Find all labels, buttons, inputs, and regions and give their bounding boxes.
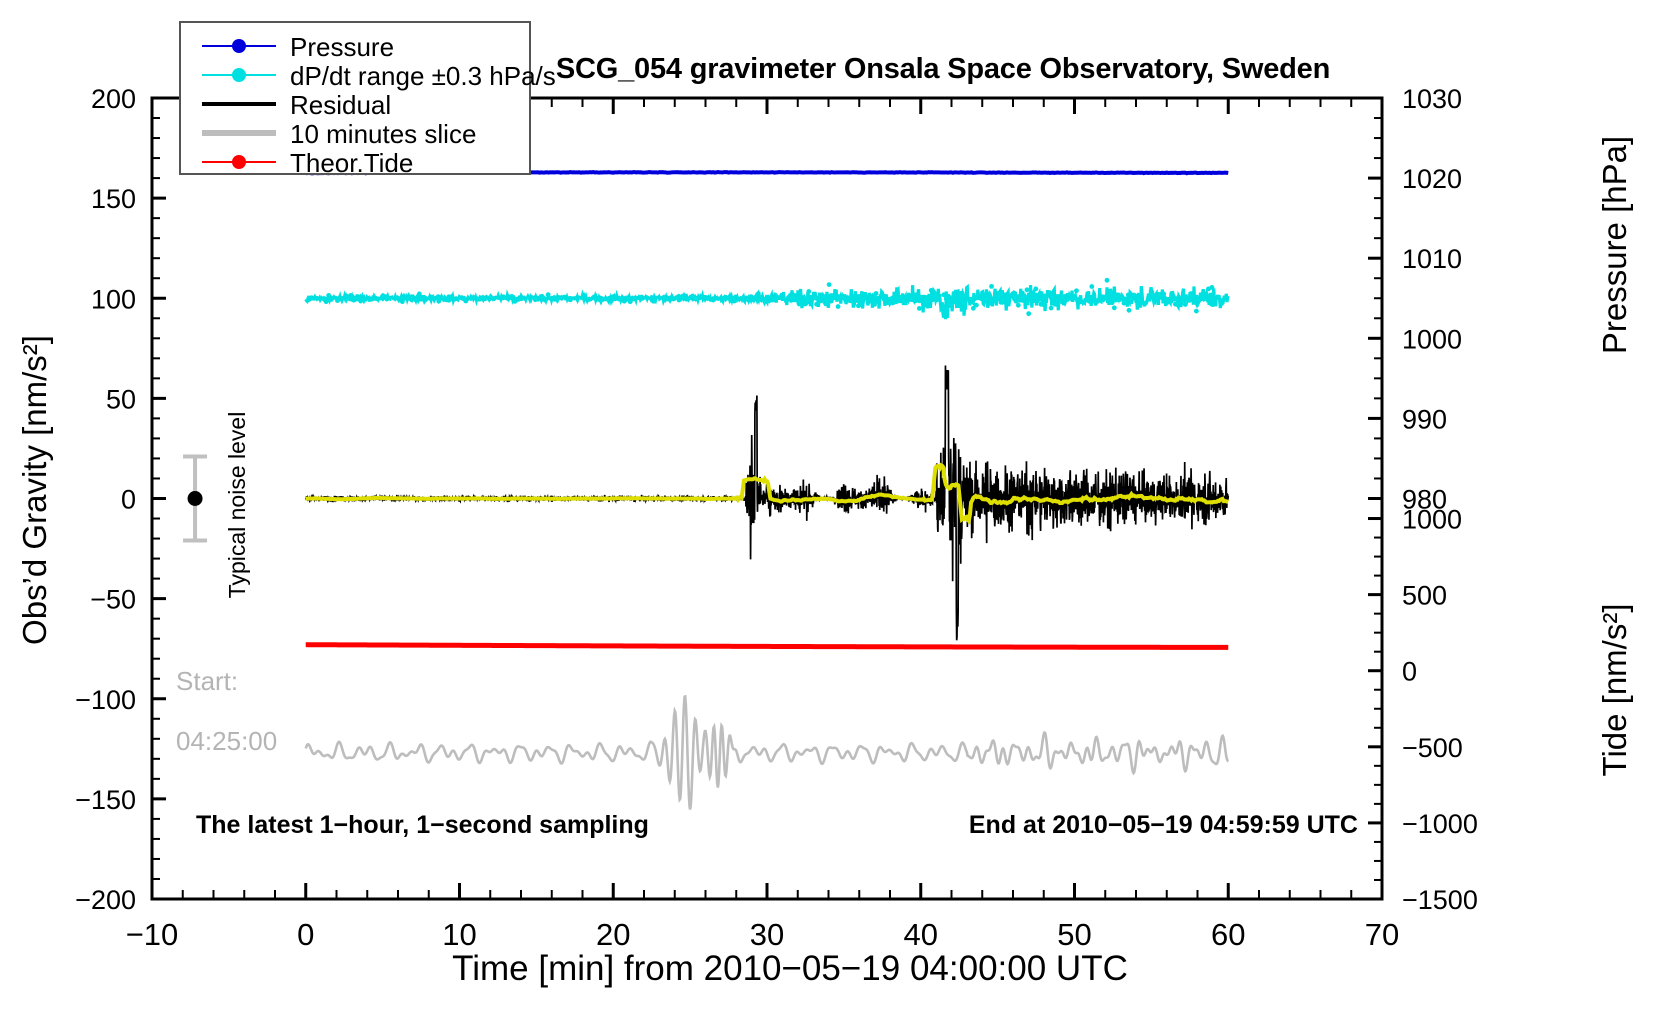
legend-swatch-dot bbox=[232, 68, 246, 82]
dpdt-point bbox=[568, 297, 573, 302]
dpdt-point bbox=[620, 296, 625, 301]
dpdt-point bbox=[1210, 285, 1215, 290]
dpdt-point bbox=[385, 297, 390, 302]
pressure-tick-label: 990 bbox=[1402, 404, 1447, 434]
dpdt-point bbox=[348, 293, 353, 298]
dpdt-point bbox=[666, 297, 671, 302]
x-tick-label: 60 bbox=[1211, 917, 1245, 952]
dpdt-point bbox=[628, 299, 633, 304]
dpdt-point bbox=[324, 299, 329, 304]
dpdt-point bbox=[651, 299, 656, 304]
dpdt-point bbox=[1126, 292, 1131, 297]
dpdt-point bbox=[838, 296, 843, 301]
dpdt-point bbox=[844, 295, 849, 300]
dpdt-point bbox=[998, 300, 1003, 305]
dpdt-point bbox=[1026, 295, 1031, 300]
dpdt-point bbox=[676, 294, 681, 299]
legend-item-label: 10 minutes slice bbox=[290, 119, 476, 149]
dpdt-point bbox=[1025, 287, 1030, 292]
y-tick-label: −200 bbox=[75, 885, 136, 915]
dpdt-point bbox=[759, 296, 764, 301]
tide-tick-label: 500 bbox=[1402, 581, 1447, 611]
dpdt-point bbox=[400, 299, 405, 304]
dpdt-point bbox=[501, 294, 506, 299]
dpdt-point bbox=[976, 295, 981, 300]
dpdt-point bbox=[1130, 296, 1135, 301]
x-tick-label: 10 bbox=[442, 917, 476, 952]
start-time-value: 04:25:00 bbox=[176, 726, 277, 756]
dpdt-point bbox=[944, 296, 949, 301]
dpdt-point bbox=[1187, 298, 1192, 303]
dpdt-point bbox=[1052, 295, 1057, 300]
y-tick-label: 0 bbox=[121, 485, 136, 515]
dpdt-point bbox=[339, 296, 344, 301]
dpdt-point bbox=[988, 301, 993, 306]
tide-tick-label: −1500 bbox=[1402, 885, 1478, 915]
dpdt-point bbox=[989, 284, 994, 289]
dpdt-point bbox=[812, 294, 817, 299]
dpdt-point bbox=[1112, 305, 1117, 310]
x-tick-label: 50 bbox=[1057, 917, 1091, 952]
pressure-tick-label: 1010 bbox=[1402, 244, 1462, 274]
y-tick-label: −100 bbox=[75, 685, 136, 715]
dpdt-point bbox=[639, 295, 644, 300]
dpdt-point bbox=[446, 294, 451, 299]
dpdt-point bbox=[1194, 309, 1199, 314]
y-tick-label: −150 bbox=[75, 785, 136, 815]
dpdt-point bbox=[546, 292, 551, 297]
dpdt-point bbox=[720, 296, 725, 301]
dpdt-point bbox=[892, 298, 897, 303]
legend[interactable]: PressuredP/dt range ±0.3 hPa/sResidual10… bbox=[180, 22, 556, 178]
dpdt-point bbox=[960, 291, 965, 296]
dpdt-point bbox=[430, 295, 435, 300]
dpdt-point bbox=[517, 295, 522, 300]
dpdt-point bbox=[711, 298, 716, 303]
footer-left-note: The latest 1−hour, 1−second sampling bbox=[196, 811, 649, 839]
x-tick-label: 0 bbox=[297, 917, 314, 952]
dpdt-point bbox=[326, 293, 331, 298]
dpdt-point bbox=[1122, 301, 1127, 306]
tide-tick-label: 0 bbox=[1402, 657, 1417, 687]
dpdt-point bbox=[786, 295, 791, 300]
dpdt-point bbox=[823, 302, 828, 307]
y-axis-title-pressure: Pressure [hPa] bbox=[1596, 136, 1633, 354]
dpdt-point bbox=[508, 295, 513, 300]
y-tick-label: −50 bbox=[90, 585, 136, 615]
dpdt-point bbox=[533, 297, 538, 302]
dpdt-point bbox=[1049, 306, 1054, 311]
dpdt-point bbox=[814, 302, 819, 307]
dpdt-point bbox=[904, 294, 909, 299]
dpdt-point bbox=[917, 306, 922, 311]
dpdt-point bbox=[932, 290, 937, 295]
dpdt-point bbox=[1212, 301, 1217, 306]
dpdt-point bbox=[1065, 297, 1070, 302]
footer-right-note: End at 2010−05−19 04:59:59 UTC bbox=[969, 811, 1358, 839]
pressure-tick-label: 1020 bbox=[1402, 164, 1462, 194]
dpdt-point bbox=[1016, 303, 1021, 308]
gravimeter-chart: 200150100500−50−100−150−200 −10010203040… bbox=[0, 0, 1676, 1020]
tide-tick-label: −1000 bbox=[1402, 809, 1478, 839]
y-tick-label: 200 bbox=[91, 84, 136, 114]
dpdt-point bbox=[311, 296, 316, 301]
dpdt-point bbox=[770, 298, 775, 303]
y-tick-label: 100 bbox=[91, 284, 136, 314]
dpdt-point bbox=[1220, 298, 1225, 303]
dpdt-point bbox=[1105, 278, 1110, 283]
dpdt-point bbox=[1041, 302, 1046, 307]
dpdt-point bbox=[1087, 299, 1092, 304]
dpdt-point bbox=[1000, 294, 1005, 299]
dpdt-point bbox=[693, 296, 698, 301]
y-tick-label: 150 bbox=[91, 184, 136, 214]
dpdt-point bbox=[1139, 298, 1144, 303]
dpdt-point bbox=[1161, 292, 1166, 297]
dpdt-point bbox=[1173, 302, 1178, 307]
dpdt-point bbox=[1012, 291, 1017, 296]
dpdt-point bbox=[463, 299, 468, 304]
dpdt-point bbox=[611, 295, 616, 300]
dpdt-point bbox=[872, 302, 877, 307]
legend-item-label: Residual bbox=[290, 90, 391, 120]
dpdt-point bbox=[824, 296, 829, 301]
dpdt-point bbox=[922, 299, 927, 304]
dpdt-point bbox=[947, 303, 952, 308]
legend-swatch-dot bbox=[232, 155, 246, 169]
dpdt-point bbox=[1014, 299, 1019, 304]
dpdt-point bbox=[807, 295, 812, 300]
dpdt-point bbox=[750, 295, 755, 300]
dpdt-point bbox=[362, 297, 367, 302]
dpdt-point bbox=[994, 291, 999, 296]
dpdt-point bbox=[381, 293, 386, 298]
dpdt-point bbox=[1026, 311, 1031, 316]
x-tick-label: 30 bbox=[750, 917, 784, 952]
dpdt-point bbox=[819, 293, 824, 298]
legend-item-label: Theor.Tide bbox=[290, 148, 413, 178]
x-tick-label: 70 bbox=[1365, 917, 1399, 952]
dpdt-point bbox=[740, 296, 745, 301]
x-tick-label: 40 bbox=[904, 917, 938, 952]
dpdt-point bbox=[827, 282, 832, 287]
dpdt-point bbox=[558, 295, 563, 300]
dpdt-point bbox=[804, 301, 809, 306]
chart-page: 200150100500−50−100−150−200 −10010203040… bbox=[0, 0, 1676, 1020]
dpdt-point bbox=[480, 295, 485, 300]
x-axis-title: Time [min] from 2010−05−19 04:00:00 UTC bbox=[452, 949, 1128, 988]
chart-title: SCG_054 gravimeter Onsala Space Observat… bbox=[556, 53, 1330, 85]
dpdt-point bbox=[436, 299, 441, 304]
dpdt-point bbox=[1047, 290, 1052, 295]
dpdt-point bbox=[836, 304, 841, 309]
legend-swatch-dot bbox=[232, 39, 246, 53]
dpdt-point bbox=[1033, 287, 1038, 292]
dpdt-point bbox=[1116, 294, 1121, 299]
dpdt-point bbox=[512, 299, 517, 304]
dpdt-point bbox=[1183, 302, 1188, 307]
dpdt-point bbox=[491, 296, 496, 301]
dpdt-point bbox=[1169, 291, 1174, 296]
typical-noise-level-label: Typical noise level bbox=[224, 412, 250, 599]
dpdt-point bbox=[806, 289, 811, 294]
dpdt-point bbox=[797, 301, 802, 306]
dpdt-point bbox=[874, 291, 879, 296]
noise-center-dot bbox=[188, 491, 203, 506]
dpdt-point bbox=[406, 294, 411, 299]
dpdt-point bbox=[1089, 284, 1094, 289]
tide-tick-label: −500 bbox=[1402, 733, 1463, 763]
legend-item-label: dP/dt range ±0.3 hPa/s bbox=[290, 61, 556, 91]
dpdt-point bbox=[420, 295, 425, 300]
x-tick-label: 20 bbox=[596, 917, 630, 952]
dpdt-point bbox=[1074, 288, 1079, 293]
start-label: Start: bbox=[176, 666, 238, 696]
dpdt-point bbox=[335, 298, 340, 303]
dpdt-point bbox=[1127, 308, 1132, 313]
dpdt-point bbox=[1154, 296, 1159, 301]
dpdt-point bbox=[597, 295, 602, 300]
dpdt-point bbox=[682, 293, 687, 298]
dpdt-point bbox=[856, 303, 861, 308]
y-tick-label: 50 bbox=[106, 384, 136, 414]
y-axis-title-gravity: Obs’d Gravity [nm/s²] bbox=[16, 335, 53, 645]
dpdt-point bbox=[452, 297, 457, 302]
pressure-tick-label: 1000 bbox=[1402, 324, 1462, 354]
x-tick-label: −10 bbox=[126, 917, 179, 952]
dpdt-point bbox=[562, 295, 567, 300]
dpdt-point bbox=[765, 299, 770, 304]
dpdt-point bbox=[459, 295, 464, 300]
dpdt-point bbox=[974, 303, 979, 308]
dpdt-point bbox=[869, 296, 874, 301]
dpdt-point bbox=[1110, 300, 1115, 305]
pressure-tick-label: 1030 bbox=[1402, 84, 1462, 114]
legend-item-label: Pressure bbox=[290, 32, 394, 62]
dpdt-point bbox=[540, 296, 545, 301]
y-axis-title-tide: Tide [nm/s²] bbox=[1596, 604, 1633, 777]
dpdt-point bbox=[1190, 293, 1195, 298]
dpdt-point bbox=[732, 299, 737, 304]
series-theor-tide bbox=[306, 645, 1229, 648]
dpdt-point bbox=[583, 295, 588, 300]
tide-tick-label: 1000 bbox=[1402, 505, 1462, 535]
dpdt-point bbox=[829, 299, 834, 304]
dpdt-point bbox=[413, 297, 418, 302]
dpdt-point bbox=[436, 294, 441, 299]
dpdt-point bbox=[353, 297, 358, 302]
